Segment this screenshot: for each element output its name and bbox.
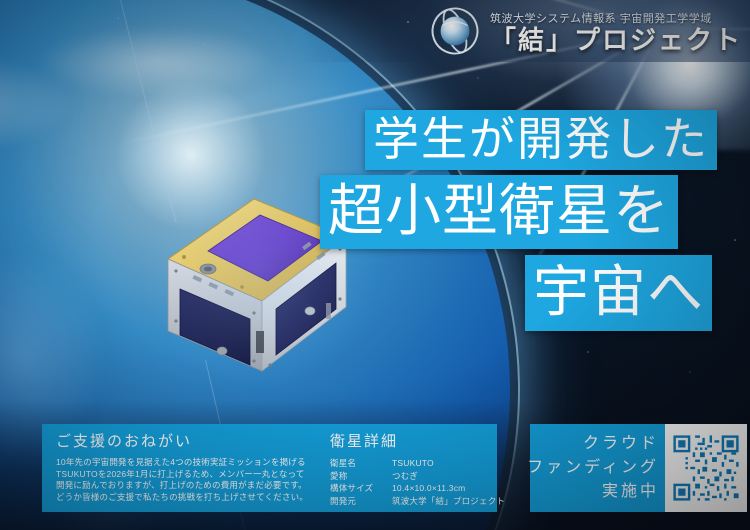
support-appeal-title: ご支援のおねがい (56, 430, 331, 451)
satellite-detail-title: 衛星詳細 (330, 430, 505, 451)
crowdfunding-panel: クラウド ファンディング 実施中 (530, 424, 665, 512)
detail-value: 筑波大学「結」プロジェクト (392, 495, 505, 508)
globe-orbit-icon (428, 4, 482, 58)
info-panel: ご支援のおねがい 10年先の宇宙開発を見据えた4つの技術実証ミッションを掲げる … (42, 424, 497, 512)
detail-label: 愛称 (330, 470, 392, 483)
support-appeal-line: 開発に励んでおりますが、打上げのための費用がまだ必要です。 (56, 480, 331, 492)
crowdfunding-text: クラウド ファンディング 実施中 (527, 432, 659, 504)
support-appeal-line: 10年先の宇宙開発を見据えた4つの技術実証ミッションを掲げる (56, 457, 331, 469)
poster-root: 筑波大学システム情報系 宇宙開発工学学域 「結」プロジェクト 学生が開発した 超… (0, 0, 750, 530)
headline-line-1: 学生が開発した (365, 110, 717, 170)
brand-subtitle: 筑波大学システム情報系 宇宙開発工学学域 (490, 10, 712, 26)
support-appeal-line: TSUKUTOを2026年1月に打上げるため、メンバー一丸となって (56, 469, 331, 481)
detail-value: つむぎ (392, 470, 418, 483)
brand-lockup: 筑波大学システム情報系 宇宙開発工学学域 「結」プロジェクト (428, 4, 742, 58)
detail-label: 構体サイズ (330, 482, 392, 495)
detail-label: 開発元 (330, 495, 392, 508)
headline-line-2: 超小型衛星を (320, 175, 678, 249)
crowdfunding-line-2: ファンディング (527, 456, 659, 480)
crowdfunding-line-3: 実施中 (527, 480, 659, 504)
support-appeal-line: どうか皆様のご支援で私たちの挑戦を打ち上げさせてください。 (56, 492, 331, 504)
detail-row: 構体サイズ 10.4×10.0×11.3cm (330, 482, 505, 495)
brand-title: 「結」プロジェクト (490, 27, 742, 53)
crowdfunding-qr-code-icon[interactable] (671, 433, 741, 503)
headline-line-3: 宇宙へ (525, 255, 712, 331)
crowdfunding-line-1: クラウド (527, 432, 659, 456)
detail-label: 衛星名 (330, 457, 392, 470)
detail-row: 開発元 筑波大学「結」プロジェクト (330, 495, 505, 508)
detail-value: 10.4×10.0×11.3cm (392, 482, 465, 495)
detail-value: TSUKUTO (392, 457, 434, 470)
satellite-detail-section: 衛星詳細 衛星名 TSUKUTO 愛称 つむぎ 構体サイズ 10.4×10.0×… (330, 430, 505, 507)
detail-row: 衛星名 TSUKUTO (330, 457, 505, 470)
qr-code-container[interactable] (665, 424, 747, 512)
support-appeal-section: ご支援のおねがい 10年先の宇宙開発を見据えた4つの技術実証ミッションを掲げる … (56, 430, 331, 503)
detail-row: 愛称 つむぎ (330, 470, 505, 483)
